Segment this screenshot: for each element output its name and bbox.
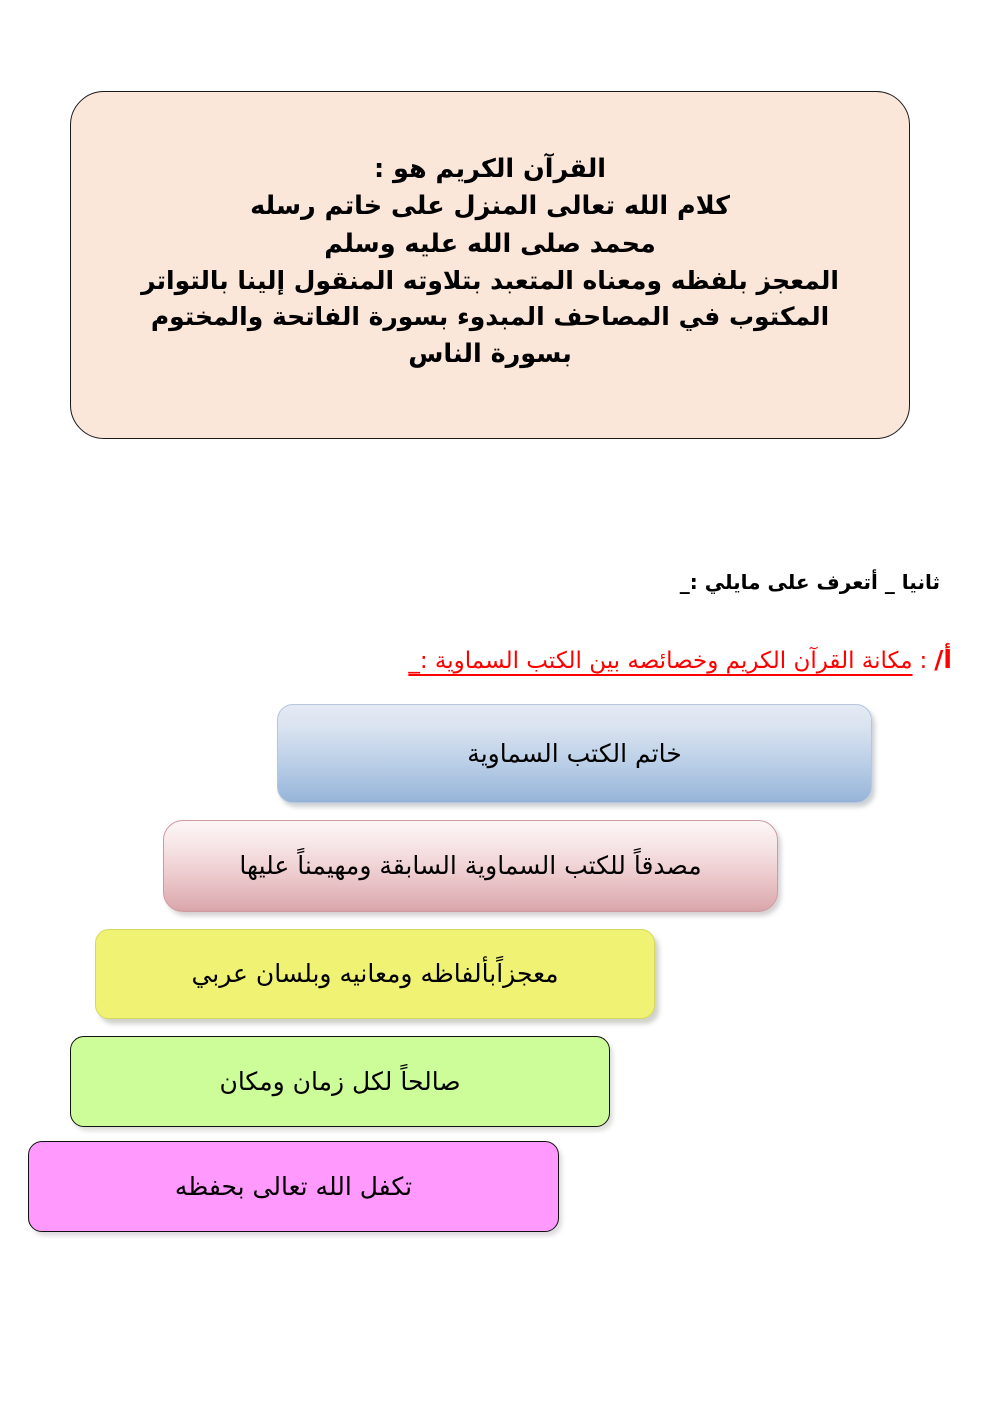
characteristic-bar-4: صالحاً لكل زمان ومكان <box>70 1036 610 1127</box>
quran-definition-box: القرآن الكريم هو : كلام الله تعالى المنز… <box>70 91 910 439</box>
characteristic-bar-5-label: تكفل الله تعالى بحفظه <box>175 1171 412 1202</box>
characteristic-bar-3-label: معجزاًبألفاظه ومعانيه وبلسان عربي <box>191 958 558 989</box>
definition-line-2: كلام الله تعالى المنزل على خاتم رسله <box>250 188 730 225</box>
section-heading: ثانيا _ أتعرف على مايلي :_ <box>680 570 940 594</box>
characteristic-bar-2-label: مصدقاً للكتب السماوية السابقة ومهيمناً ع… <box>239 850 701 881</box>
definition-line-5: المكتوب في المصاحف المبدوء بسورة الفاتحة… <box>151 299 829 336</box>
characteristic-bar-3: معجزاًبألفاظه ومعانيه وبلسان عربي <box>95 929 655 1019</box>
sub-heading-letter: أ/ <box>934 645 952 674</box>
definition-line-6: بسورة الناس <box>408 336 572 373</box>
characteristic-bar-1-label: خاتم الكتب السماوية <box>467 738 681 769</box>
characteristic-bar-4-label: صالحاً لكل زمان ومكان <box>219 1066 460 1097</box>
characteristic-bar-1: خاتم الكتب السماوية <box>277 704 872 803</box>
sub-heading-text: مكانة القرآن الكريم وخصائصه بين الكتب ال… <box>408 648 912 674</box>
characteristic-bar-2: مصدقاً للكتب السماوية السابقة ومهيمناً ع… <box>163 820 778 912</box>
definition-line-4: المعجز بلفظه ومعناه المتعبد بتلاوته المن… <box>141 263 839 300</box>
sub-heading-separator: : <box>920 648 928 674</box>
definition-line-title: القرآن الكريم هو : <box>374 151 606 188</box>
definition-line-3: محمد صلى الله عليه وسلم <box>324 226 656 263</box>
characteristic-bar-5: تكفل الله تعالى بحفظه <box>28 1141 559 1232</box>
sub-heading: أ/ : مكانة القرآن الكريم وخصائصه بين الك… <box>408 645 952 674</box>
